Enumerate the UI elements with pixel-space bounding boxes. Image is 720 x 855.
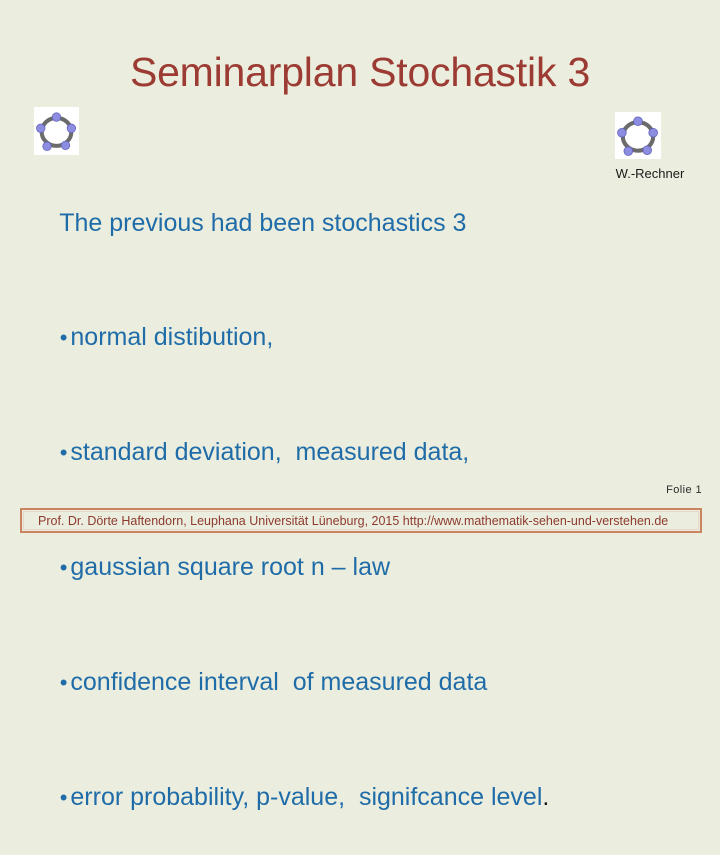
slide-canvas: Seminarplan Stochastik 3 W.-Rechner The … [0, 0, 720, 540]
footer-bar: Prof. Dr. Dörte Haftendorn, Leuphana Uni… [20, 508, 702, 533]
bullet-icon: • [60, 670, 71, 695]
bullet-item-5: •error probability, p-value, signifcance… [18, 740, 678, 855]
bullet-item-4-label: confidence interval of measured data [70, 668, 487, 696]
bullet-icon: • [60, 325, 71, 350]
bullet-item-1-label: normal distibution, [70, 323, 273, 351]
bullet-icon: • [60, 555, 71, 580]
geogebra-logo-icon [615, 112, 661, 159]
body-heading: The previous had been stochastics 3 [18, 166, 678, 280]
bullet-item-2: •standard deviation, measured data, [18, 395, 678, 510]
bullet-item-3-label: gaussian square root n – law [70, 553, 390, 581]
body-heading-text: The previous had been stochastics 3 [59, 209, 466, 237]
bullet-item-1: •normal distibution, [18, 280, 678, 395]
slide-number: Folie 1 [666, 484, 702, 496]
footer-inner-border: Prof. Dr. Dörte Haftendorn, Leuphana Uni… [23, 511, 699, 530]
trailing-period: . [542, 783, 549, 811]
bullet-item-5-label: error probability, p-value, signifcance … [70, 783, 542, 811]
bullet-icon: • [60, 785, 71, 810]
footer-credit-text: Prof. Dr. Dörte Haftendorn, Leuphana Uni… [24, 514, 668, 528]
bullet-icon: • [60, 440, 71, 465]
bullet-item-4: •confidence interval of measured data [18, 625, 678, 740]
geogebra-logo-right [615, 112, 661, 159]
bullet-item-2-label: standard deviation, measured data, [70, 438, 469, 466]
geogebra-logo-icon [34, 107, 79, 155]
page-title: Seminarplan Stochastik 3 [0, 47, 720, 97]
geogebra-logo-left [34, 107, 79, 155]
